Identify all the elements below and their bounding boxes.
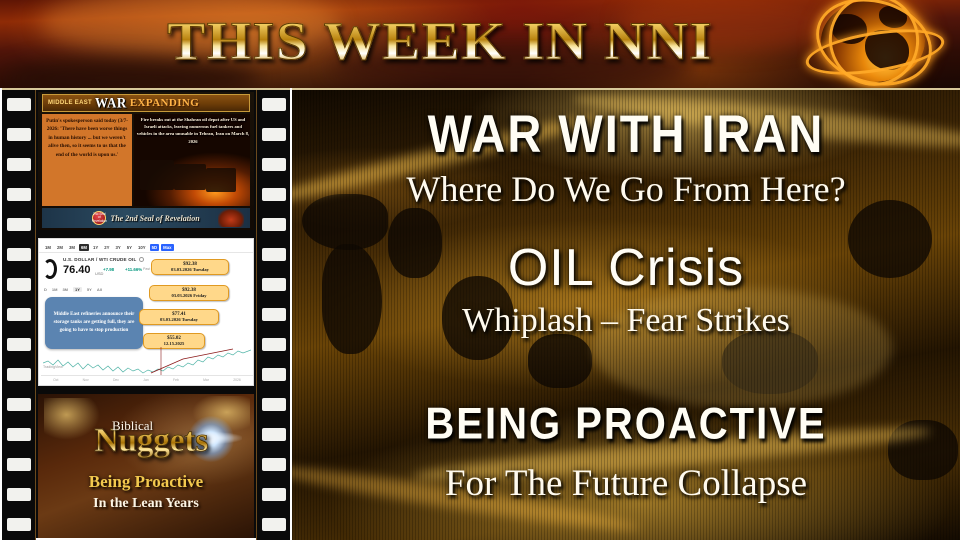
war-seal-footer: 2nd Seal of Revelation The 2nd Seal of R… [42, 208, 250, 228]
main-title-panel: WAR WITH IRAN Where Do We Go From Here? … [292, 88, 960, 540]
callout-date: 12.15.2025 [148, 341, 200, 346]
range-5y[interactable]: 5Y [87, 287, 92, 292]
filmstrip-frames: MIDDLE EAST WAR EXPANDING Putin's spokes… [38, 92, 254, 538]
war-panel-header: MIDDLE EAST WAR EXPANDING [42, 94, 250, 112]
filmstrip-sprockets-right [256, 90, 290, 540]
header-banner: THIS WEEK IN NNI [0, 0, 960, 88]
headline-war-with-iran: WAR WITH IRAN [292, 103, 960, 165]
timeframe-2y[interactable]: 2Y [102, 244, 111, 251]
timeframe-5y[interactable]: 5Y [125, 244, 134, 251]
burned-truck [140, 160, 174, 190]
timeframe-3y[interactable]: 3Y [113, 244, 122, 251]
headline-oil-crisis: OIL Crisis [292, 238, 960, 298]
brand-logo-icon [43, 259, 57, 279]
banner-title: THIS WEEK IN NNI [80, 10, 801, 72]
chart-callout-1: $92.38 03.03.2026 Tuesday [151, 259, 229, 275]
range-3m[interactable]: 3M [62, 287, 68, 292]
subhead-being-proactive: For The Future Collapse [292, 462, 960, 505]
range-d[interactable]: D [44, 287, 47, 292]
axis-tick: Nov [83, 378, 89, 382]
nuggets-subtitle-2: In the Lean Years [38, 496, 254, 512]
axis-tick: Dec [113, 378, 119, 382]
war-photo: Fire breaks out at the Shahran oil depot… [134, 114, 250, 206]
filmstrip-sidebar: MIDDLE EAST WAR EXPANDING Putin's spokes… [2, 88, 290, 538]
callout-date: 03.03.2026 Tuesday [156, 267, 224, 272]
war-quote-box: Putin's spokesperson said today (3/7-202… [42, 114, 132, 206]
war-photo-caption: Fire breaks out at the Shahran oil depot… [136, 116, 250, 145]
chart-callout-3: $77.41 03.03.2026 Tuesday [139, 309, 219, 325]
range-1m[interactable]: 1M [52, 287, 58, 292]
chart-range-selector[interactable]: D 1M 3M 1Y 5Y All [41, 285, 161, 293]
chart-change: +7.98 [103, 267, 114, 272]
tradingview-brand: TradingView [43, 365, 63, 369]
axis-tick: Jan [143, 378, 148, 382]
burned-truck [206, 168, 236, 192]
body-area: MIDDLE EAST WAR EXPANDING Putin's spokes… [0, 88, 960, 540]
headline-being-proactive: BEING PROACTIVE [292, 399, 960, 449]
refinery-note-text: Middle East refineries announce their st… [49, 311, 139, 335]
callout-date: 03.03.2026 Friday [154, 293, 224, 298]
axis-tick: Mar [203, 378, 209, 382]
panel-biblical-nuggets[interactable]: Nuggets Biblical Being Proactive In the … [38, 394, 254, 538]
horseman-figure [218, 209, 244, 227]
globe-icon [795, 0, 955, 86]
chart-timeframe-toolbar[interactable]: 1M 2M 3M 6M 1Y 2Y 3Y 5Y 10Y 5D Max [39, 243, 254, 253]
callout-date: 03.03.2026 Tuesday [144, 317, 214, 322]
timeframe-10y[interactable]: 10Y [136, 244, 148, 251]
biblical-eyebrow: Biblical [112, 418, 153, 434]
axis-tick: Feb [173, 378, 179, 382]
subhead-oil-crisis: Whiplash – Fear Strikes [292, 302, 960, 340]
timeframe-1y[interactable]: 1Y [91, 244, 100, 251]
timeframe-5d[interactable]: 5D [150, 244, 160, 251]
seal-title: The 2nd Seal of Revelation [110, 214, 199, 223]
price-line-chart [43, 347, 251, 375]
war-photo-caption-text: Fire breaks out at the Shahran oil depot… [136, 116, 250, 145]
chart-price: 76.40 [63, 264, 91, 276]
axis-tick: Oct [53, 378, 58, 382]
burned-truck [174, 164, 206, 190]
video-title-card: THIS WEEK IN NNI [0, 0, 960, 540]
timeframe-3m[interactable]: 3M [67, 244, 77, 251]
timeframe-2m[interactable]: 2M [55, 244, 65, 251]
war-region-label: MIDDLE EAST [48, 100, 92, 106]
chart-symbol: U.S. DOLLAR / WTI CRUDE OIL [63, 257, 137, 262]
refinery-note-callout: Middle East refineries announce their st… [45, 297, 143, 349]
timeframe-1m[interactable]: 1M [43, 244, 53, 251]
axis-tick: 2026 [233, 378, 241, 382]
war-status-label: EXPANDING [130, 97, 199, 109]
range-all[interactable]: All [97, 287, 102, 292]
war-quote-text: Putin's spokesperson said today (3/7-202… [44, 117, 130, 159]
chart-info-icon[interactable] [139, 257, 144, 262]
filmstrip-sprockets-left [2, 90, 36, 540]
subhead-war-with-iran: Where Do We Go From Here? [292, 168, 960, 210]
chart-callout-2: $92.38 03.03.2026 Friday [149, 285, 229, 301]
chart-change-percent: +11.66% [125, 267, 142, 272]
war-keyword-label: WAR [95, 94, 127, 112]
panel-middle-east-war[interactable]: MIDDLE EAST WAR EXPANDING Putin's spokes… [38, 92, 254, 230]
nuggets-subtitle: Being Proactive [38, 472, 254, 492]
timeframe-6m[interactable]: 6M [79, 244, 89, 251]
range-1y[interactable]: 1Y [73, 287, 82, 292]
timeframe-max[interactable]: Max [161, 244, 173, 251]
panel-oil-chart[interactable]: 1M 2M 3M 6M 1Y 2Y 3Y 5Y 10Y 5D Max [38, 238, 254, 386]
seal-badge-icon: 2nd Seal of Revelation [92, 211, 106, 225]
chart-x-axis: Oct Nov Dec Jan Feb Mar 2026 [41, 375, 253, 384]
